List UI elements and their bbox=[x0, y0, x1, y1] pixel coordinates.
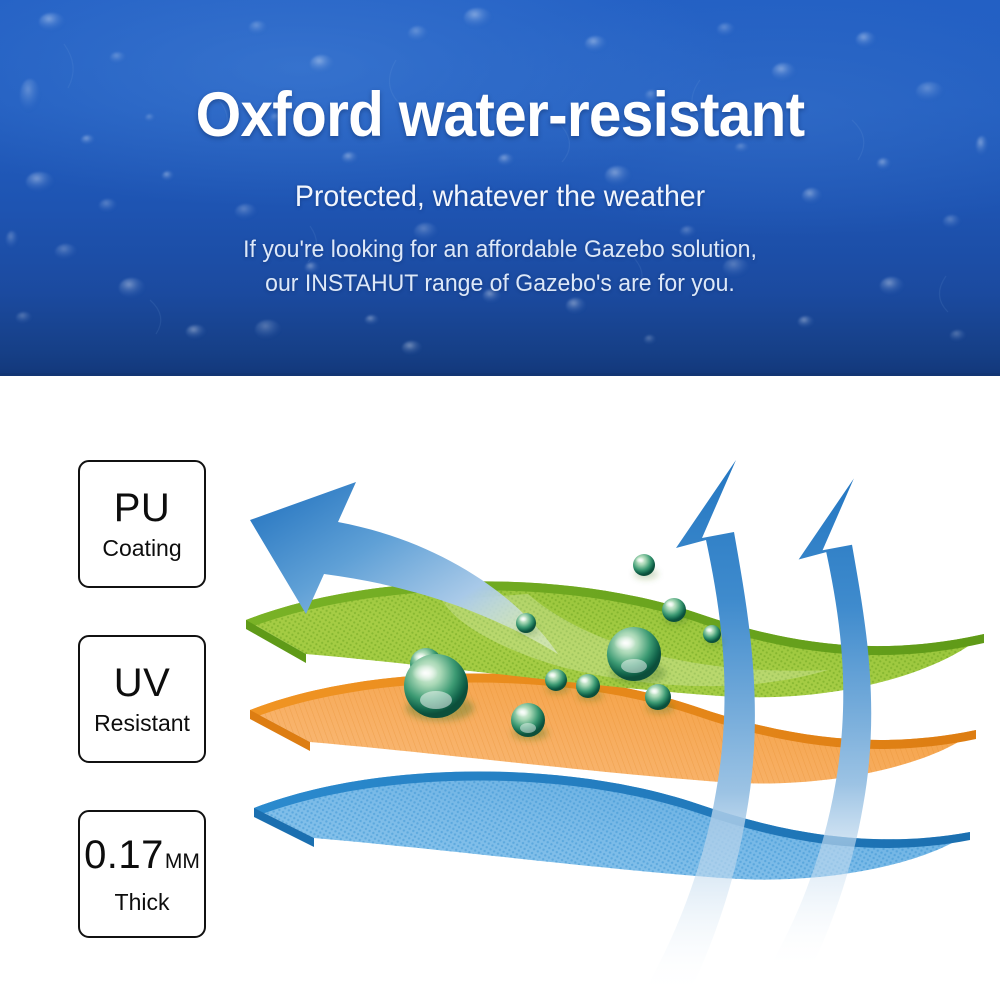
badge-value: PU bbox=[114, 487, 171, 529]
fabric-layers-illustration bbox=[228, 408, 1000, 1000]
feature-badge-list: PU Coating UV Resistant 0.17 MM Thick bbox=[78, 460, 210, 938]
water-droplet bbox=[633, 554, 658, 579]
feature-badge-pu-coating: PU Coating bbox=[78, 460, 206, 588]
fabric-layers-svg bbox=[228, 408, 1000, 1000]
feature-badge-uv-resistant: UV Resistant bbox=[78, 635, 206, 763]
badge-sub-label: Coating bbox=[102, 535, 181, 561]
badge-main-text: PU bbox=[114, 487, 171, 529]
water-droplet bbox=[662, 598, 689, 625]
badge-value: UV bbox=[114, 662, 171, 704]
hero-subtitle: Protected, whatever the weather bbox=[25, 177, 975, 217]
hero-description-line-1: If you're looking for an affordable Gaze… bbox=[20, 233, 980, 267]
hero-description-line-2: our INSTAHUT range of Gazebo's are for y… bbox=[20, 267, 980, 301]
feature-badge-thickness: 0.17 MM Thick bbox=[78, 810, 206, 938]
page-title: Oxford water-resistant bbox=[35, 79, 965, 151]
badge-sub-label: Thick bbox=[115, 889, 170, 915]
hero-banner: Oxford water-resistant Protected, whatev… bbox=[0, 0, 1000, 376]
hero-bottom-divider bbox=[0, 373, 1000, 376]
badge-main-text: 0.17 MM bbox=[84, 834, 200, 883]
badge-main-text: UV bbox=[114, 662, 171, 704]
breathability-arrow-2-icon bbox=[771, 478, 871, 971]
product-feature-infographic: Oxford water-resistant Protected, whatev… bbox=[0, 0, 1000, 1000]
badge-sub-label: Resistant bbox=[94, 710, 190, 736]
badge-unit: MM bbox=[165, 841, 200, 883]
badge-value: 0.17 bbox=[84, 834, 164, 876]
hero-description: If you're looking for an affordable Gaze… bbox=[20, 233, 980, 301]
